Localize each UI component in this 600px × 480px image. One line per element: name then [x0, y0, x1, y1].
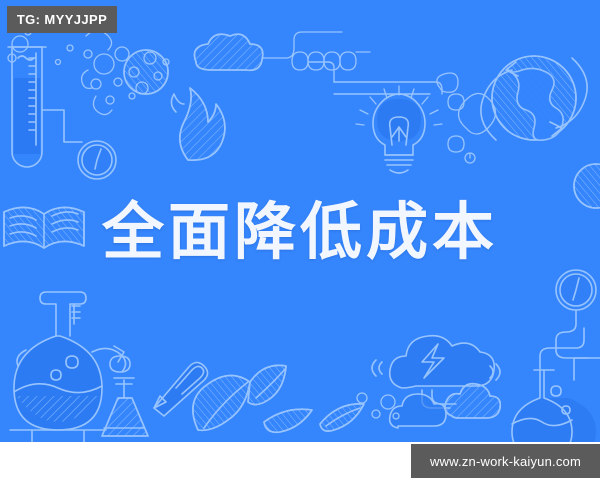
leaf-doodle	[193, 365, 364, 432]
light-bulb-doodle	[356, 86, 442, 173]
small-gauge-doodle	[465, 153, 475, 163]
globe-recycle-doodle	[481, 56, 587, 140]
coil-spring-doodle	[262, 32, 370, 70]
site-watermark-text: www.zn-work-kaiyun.com	[430, 454, 581, 469]
screenshot-root: 全面降低成本 TG: MYYJJPP www.zn-work-kaiyun.co…	[0, 0, 600, 480]
test-tube-doodle	[8, 47, 82, 167]
poster-image: 全面降低成本	[0, 0, 600, 442]
pressure-gauge-doodle	[78, 141, 116, 179]
cloud-doodle	[195, 34, 263, 70]
flask-right-doodle	[512, 328, 596, 442]
telegram-handle-badge: TG: MYYJJPP	[7, 6, 117, 33]
telegram-handle-text: TG: MYYJJPP	[17, 12, 107, 27]
round-flask-doodle	[10, 292, 106, 442]
flame-doodle	[171, 88, 224, 160]
hatched-cloud-doodle	[445, 384, 500, 418]
blob-cluster-doodle	[437, 73, 496, 152]
gauge-tube-doodle	[556, 270, 600, 380]
small-cloud-doodle	[390, 394, 446, 428]
site-watermark-badge: www.zn-work-kaiyun.com	[411, 444, 600, 478]
connector-line-doodle	[308, 62, 442, 94]
poster-headline: 全面降低成本	[0, 196, 600, 268]
hatched-sphere-doodle	[124, 50, 168, 94]
